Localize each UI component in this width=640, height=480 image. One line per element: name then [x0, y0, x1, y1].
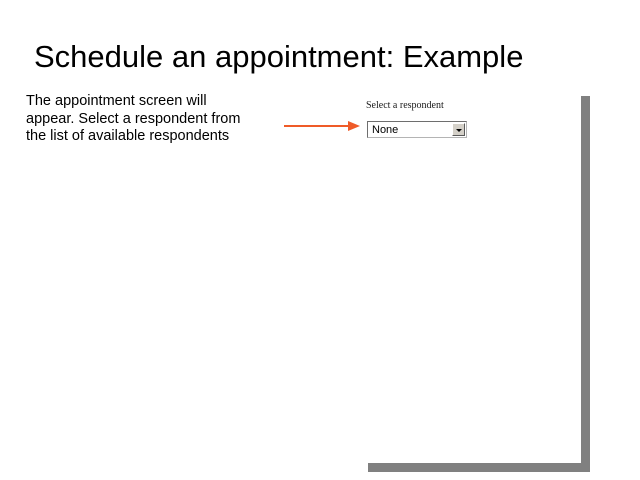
respondent-select-label: Select a respondent	[366, 100, 444, 111]
arrow-shaft	[284, 125, 350, 127]
callout-arrow-icon	[284, 119, 364, 133]
panel-shadow-right	[581, 96, 590, 464]
slide-body-text: The appointment screen will appear. Sele…	[26, 93, 258, 146]
caret-glyph	[456, 129, 462, 132]
panel-shadow-bottom	[368, 463, 590, 472]
embedded-screenshot-panel	[360, 90, 582, 464]
page-title: Schedule an appointment: Example	[34, 39, 614, 75]
arrow-head	[348, 121, 360, 131]
chevron-down-icon[interactable]	[452, 123, 465, 136]
respondent-select[interactable]: None	[367, 121, 467, 138]
slide-canvas: Schedule an appointment: Example The app…	[0, 0, 640, 480]
respondent-select-value: None	[372, 123, 398, 137]
